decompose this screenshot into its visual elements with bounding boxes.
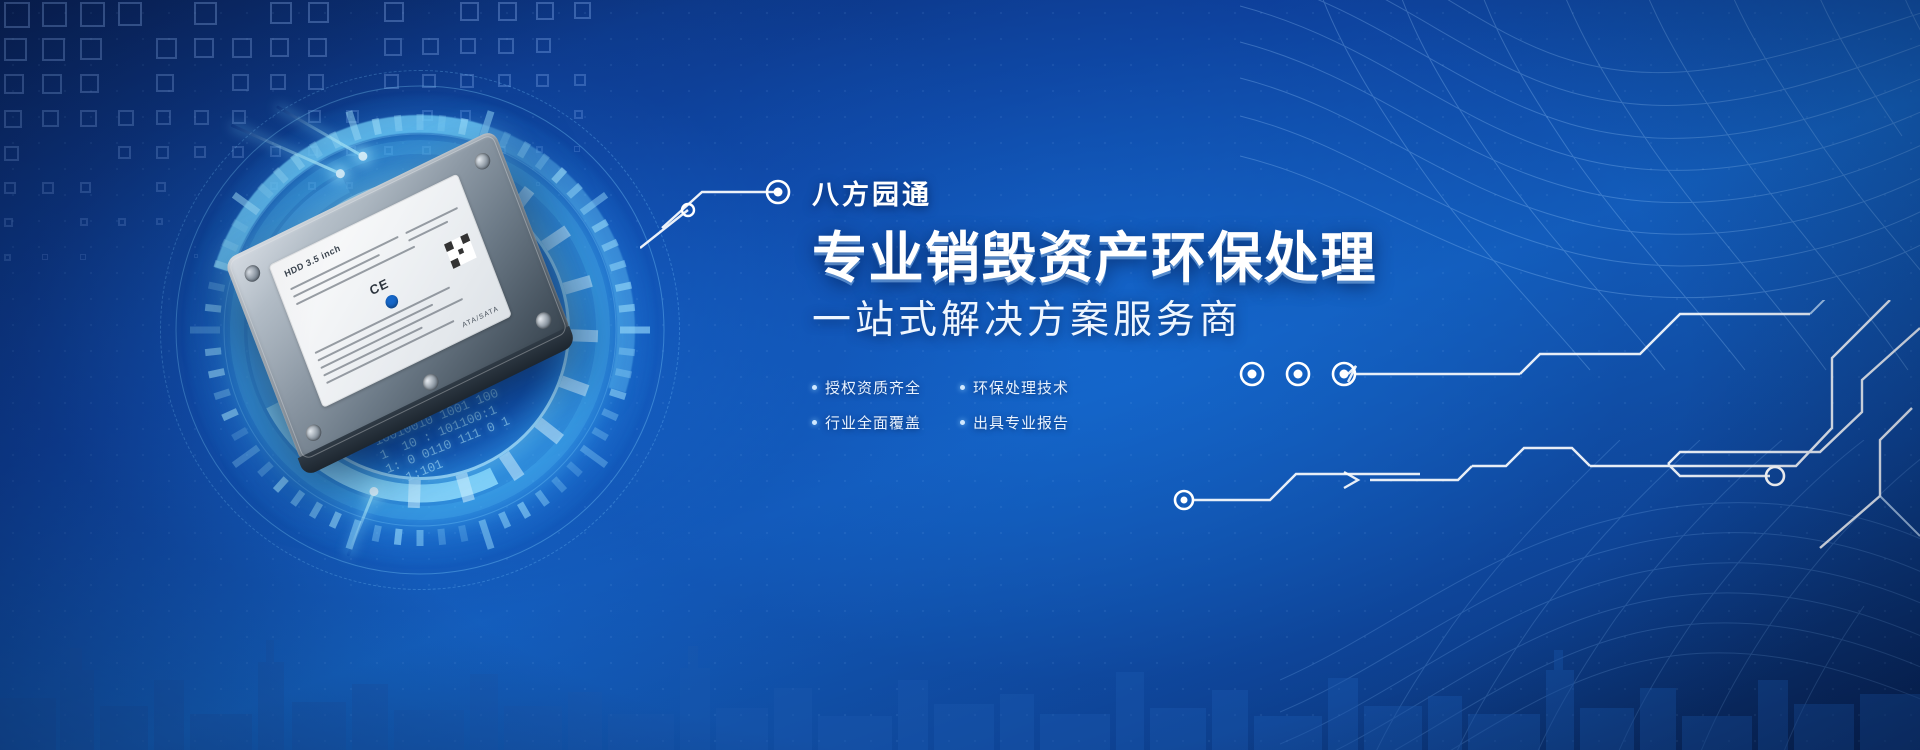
mosaic-square xyxy=(42,182,54,194)
mosaic-square xyxy=(4,218,13,227)
mosaic-square xyxy=(536,2,554,20)
mosaic-square xyxy=(308,2,329,23)
hero-banner: 10010010 1001 100 1 10 : 101100:1 1: 0 0… xyxy=(0,0,1920,750)
bullet-icon xyxy=(812,385,817,390)
mosaic-square xyxy=(270,2,292,24)
mosaic-square xyxy=(4,146,19,161)
mosaic-square xyxy=(42,74,62,94)
mosaic-square xyxy=(574,2,591,19)
mosaic-square xyxy=(156,38,177,59)
bullet-icon xyxy=(812,420,817,425)
mosaic-square xyxy=(80,74,99,93)
banner-copy-block: 八方园通 专业销毁资产环保处理 一站式解决方案服务商 授权资质齐全环保处理技术行… xyxy=(812,182,1452,433)
feature-list: 授权资质齐全环保处理技术行业全面覆盖出具专业报告 xyxy=(812,377,1112,433)
mosaic-square xyxy=(384,38,402,56)
mosaic-square xyxy=(4,38,27,61)
brand-name: 八方园通 xyxy=(812,182,1452,209)
feature-label: 环保处理技术 xyxy=(973,377,1069,398)
mosaic-square xyxy=(232,38,252,58)
feature-item: 行业全面覆盖 xyxy=(812,412,960,433)
mosaic-square xyxy=(384,2,404,22)
mosaic-square xyxy=(460,38,476,54)
feature-label: 出具专业报告 xyxy=(973,412,1069,433)
headline: 专业销毁资产环保处理 xyxy=(812,229,1452,288)
mosaic-square xyxy=(460,2,479,21)
feature-label: 行业全面覆盖 xyxy=(825,412,921,433)
mosaic-square xyxy=(498,38,514,54)
mosaic-square xyxy=(80,2,105,27)
ce-mark-icon: CE xyxy=(367,275,390,298)
mosaic-square xyxy=(4,254,11,261)
mosaic-square xyxy=(118,218,126,226)
mosaic-square xyxy=(194,2,217,25)
qr-code-icon xyxy=(444,233,477,269)
feature-item: 出具专业报告 xyxy=(960,412,1108,433)
feature-label: 授权资质齐全 xyxy=(825,377,921,398)
mosaic-square xyxy=(4,110,22,128)
bullet-icon xyxy=(960,420,965,425)
mosaic-square xyxy=(422,38,439,55)
mosaic-square xyxy=(270,38,289,57)
mosaic-square xyxy=(42,38,65,61)
hard-drive-graphic: 10010010 1001 100 1 10 : 101100:1 1: 0 0… xyxy=(130,70,710,590)
feature-item: 授权资质齐全 xyxy=(812,377,960,398)
bullet-icon xyxy=(960,385,965,390)
mosaic-square xyxy=(80,182,91,193)
mosaic-square xyxy=(118,2,142,26)
feature-item: 环保处理技术 xyxy=(960,377,1108,398)
mosaic-square xyxy=(308,38,327,57)
mosaic-square xyxy=(42,254,48,260)
mosaic-square xyxy=(80,218,88,226)
mosaic-square xyxy=(80,38,102,60)
mosaic-square xyxy=(498,2,517,21)
mosaic-square xyxy=(194,38,214,58)
mosaic-square xyxy=(80,254,86,260)
mosaic-square xyxy=(42,2,67,27)
mosaic-square xyxy=(4,2,30,28)
mosaic-square xyxy=(42,110,59,127)
city-skyline-icon xyxy=(0,610,1920,750)
label-blue-dot-icon xyxy=(384,293,400,311)
mosaic-square xyxy=(4,182,16,194)
mosaic-square xyxy=(4,74,24,94)
mosaic-square xyxy=(80,110,97,127)
mosaic-square xyxy=(536,38,551,53)
subheadline: 一站式解决方案服务商 xyxy=(812,300,1452,343)
